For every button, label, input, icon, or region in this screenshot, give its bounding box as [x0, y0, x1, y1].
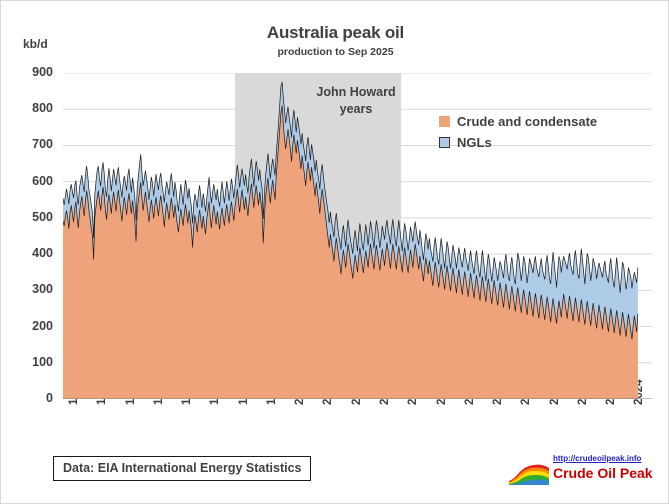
legend-swatch-crude — [439, 116, 450, 127]
y-tick-100: 100 — [9, 355, 53, 369]
legend-swatch-ngls — [439, 137, 450, 148]
y-tick-900: 900 — [9, 65, 53, 79]
logo-brand-text: Crude Oil Peak — [553, 465, 653, 481]
legend-label-ngls: NGLs — [457, 135, 492, 150]
y-tick-700: 700 — [9, 137, 53, 151]
y-tick-200: 200 — [9, 319, 53, 333]
legend-label-crude: Crude and condensate — [457, 114, 597, 129]
chart-title: Australia peak oil — [1, 23, 669, 43]
legend-item-ngls: NGLs — [439, 132, 597, 153]
y-tick-800: 800 — [9, 101, 53, 115]
logo-url-text[interactable]: http://crudeoilpeak.info — [553, 454, 641, 463]
data-source-caption: Data: EIA International Energy Statistic… — [53, 456, 311, 481]
chart-canvas: Australia peak oil production to Sep 202… — [0, 0, 669, 504]
y-tick-400: 400 — [9, 246, 53, 260]
crude-oil-peak-logo[interactable]: http://crudeoilpeak.info Crude Oil Peak — [509, 453, 659, 493]
legend-item-crude: Crude and condensate — [439, 111, 597, 132]
john-howard-annotation: John Howard years — [301, 84, 411, 118]
y-tick-500: 500 — [9, 210, 53, 224]
y-tick-0: 0 — [9, 391, 53, 405]
chart-legend: Crude and condensate NGLs — [439, 111, 597, 153]
y-tick-300: 300 — [9, 282, 53, 296]
y-axis-unit-label: kb/d — [23, 37, 48, 51]
john-howard-line2: years — [301, 101, 411, 118]
y-tick-600: 600 — [9, 174, 53, 188]
stacked-chart-logo-icon — [509, 459, 549, 485]
john-howard-line1: John Howard — [301, 84, 411, 101]
chart-subtitle: production to Sep 2025 — [1, 46, 669, 58]
